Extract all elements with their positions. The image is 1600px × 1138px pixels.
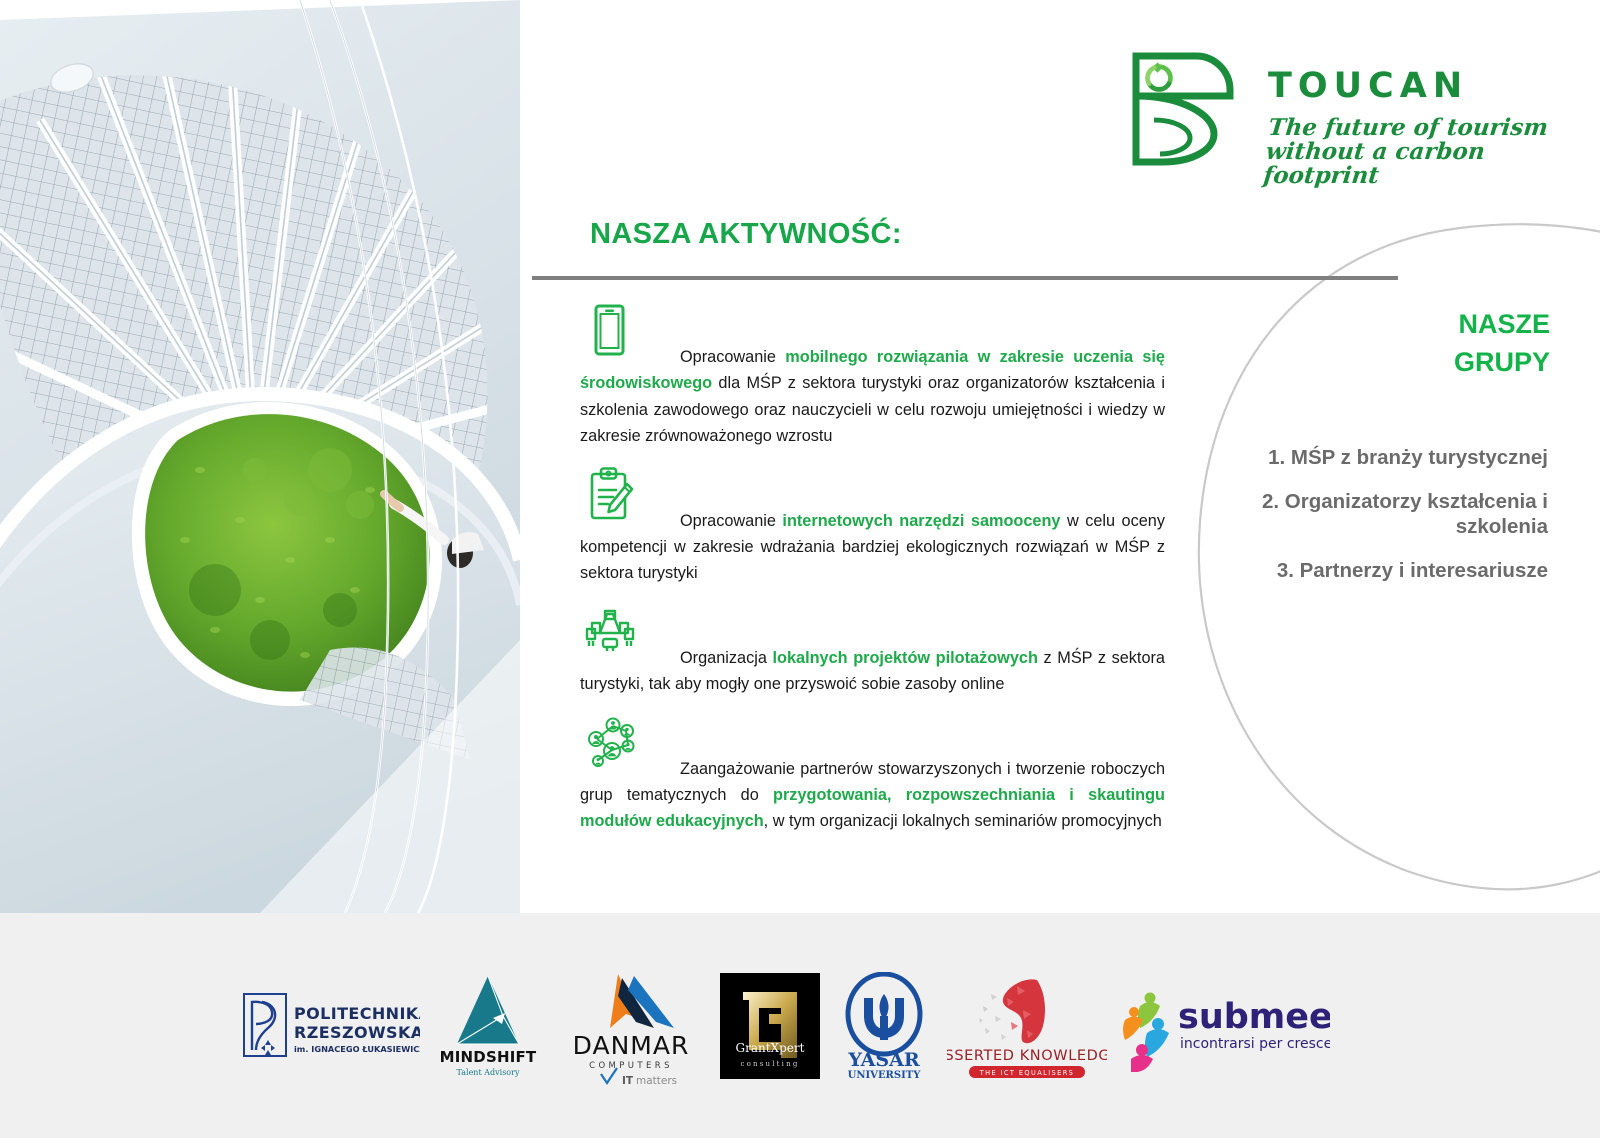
svg-text:IT: IT <box>622 1075 634 1086</box>
svg-text:consulting: consulting <box>740 1060 799 1068</box>
activity-text-2: Opracowanie internetowych narzędzi samoo… <box>580 464 1165 587</box>
svg-text:GrantXpert: GrantXpert <box>736 1041 805 1055</box>
brand-tagline-line1: The future of tourism <box>1267 116 1560 140</box>
svg-text:ASSERTED KNOWLEDGE: ASSERTED KNOWLEDGE <box>947 1048 1107 1064</box>
footer-bar: POLITECHNIKA RZESZOWSKA im. IGNACEGO ŁUK… <box>0 913 1600 1138</box>
svg-text:im. IGNACEGO ŁUKASIEWICZA: im. IGNACEGO ŁUKASIEWICZA <box>294 1044 420 1054</box>
groups-title-line1: NASZE <box>1250 305 1550 343</box>
activity-item: Zaangażowanie partnerów stowarzyszonych … <box>580 712 1165 835</box>
brand-name: TOUCAN <box>1268 66 1468 106</box>
activities-list: Opracowanie mobilnego rozwiązania w zakr… <box>580 300 1165 849</box>
svg-text:Talent Advisory: Talent Advisory <box>457 1068 520 1077</box>
page-title: NASZA AKTYWNOŚĆ: <box>590 218 902 251</box>
svg-text:THE ICT EQUALISERS: THE ICT EQUALISERS <box>979 1069 1075 1077</box>
partner-logo-danmar-computers: DANMAR COMPUTERS IT matters <box>556 966 706 1086</box>
svg-text:YASAR: YASAR <box>847 1049 920 1071</box>
activity-text-4: Zaangażowanie partnerów stowarzyszonych … <box>580 712 1165 835</box>
activity-text-3: Organizacja lokalnych projektów pilotażo… <box>580 601 1165 698</box>
partner-logo-strip: POLITECHNIKA RZESZOWSKA im. IGNACEGO ŁUK… <box>240 913 1330 1138</box>
svg-text:DANMAR: DANMAR <box>573 1031 690 1060</box>
group-item: 2. Organizatorzy kształcenia i szkolenia <box>1180 489 1548 540</box>
group-item: 1. MŚP z branży turystycznej <box>1180 445 1548 471</box>
partner-logo-yasar-university: YASAR UNIVERSITY <box>834 972 934 1080</box>
activity-item: Opracowanie mobilnego rozwiązania w zakr… <box>580 300 1165 450</box>
svg-text:submeet: submeet <box>1178 997 1330 1037</box>
brand-tagline: The future of tourism without a carbon f… <box>1262 116 1560 188</box>
svg-text:matters: matters <box>636 1075 677 1086</box>
title-divider <box>532 276 1398 280</box>
groups-list: 1. MŚP z branży turystycznej 2. Organiza… <box>1180 445 1548 602</box>
svg-text:MINDSHIFT: MINDSHIFT <box>440 1048 537 1066</box>
groups-title: NASZE GRUPY <box>1250 305 1550 382</box>
partner-logo-grantxpert: GrantXpert consulting <box>719 972 821 1080</box>
clipboard-pencil-icon <box>580 464 640 524</box>
partner-logo-submeet: submeet incontrarsi per crescere <box>1120 980 1330 1072</box>
group-item: 3. Partnerzy i interesariusze <box>1180 558 1548 584</box>
slide-root: TOUCAN The future of tourism without a c… <box>0 0 1600 1138</box>
svg-text:POLITECHNIKA: POLITECHNIKA <box>294 1004 420 1023</box>
brand-tagline-line2: without a carbon footprint <box>1262 140 1557 188</box>
activity-text-1: Opracowanie mobilnego rozwiązania w zakr… <box>580 300 1165 450</box>
groups-title-line2: GRUPY <box>1250 343 1550 381</box>
mobile-phone-icon <box>580 300 640 360</box>
svg-text:incontrarsi per crescere: incontrarsi per crescere <box>1180 1036 1330 1052</box>
activity-item: Organizacja lokalnych projektów pilotażo… <box>580 601 1165 698</box>
meeting-table-icon <box>580 601 640 661</box>
partner-logo-politechnika-rzeszowska: POLITECHNIKA RZESZOWSKA im. IGNACEGO ŁUK… <box>240 986 420 1066</box>
brand-logo: TOUCAN The future of tourism without a c… <box>1118 38 1548 178</box>
svg-text:RZESZOWSKA: RZESZOWSKA <box>294 1023 420 1042</box>
svg-text:UNIVERSITY: UNIVERSITY <box>848 1070 922 1080</box>
toucan-recycle-logo-icon <box>1118 38 1253 173</box>
partner-logo-asserted-knowledge: ASSERTED KNOWLEDGE THE ICT EQUALISERS <box>947 974 1107 1078</box>
partner-logo-mindshift: MINDSHIFT Talent Advisory <box>433 970 543 1082</box>
svg-text:COMPUTERS: COMPUTERS <box>589 1061 673 1071</box>
network-people-icon <box>580 712 640 772</box>
hero-photo <box>0 0 520 913</box>
activity-item: Opracowanie internetowych narzędzi samoo… <box>580 464 1165 587</box>
